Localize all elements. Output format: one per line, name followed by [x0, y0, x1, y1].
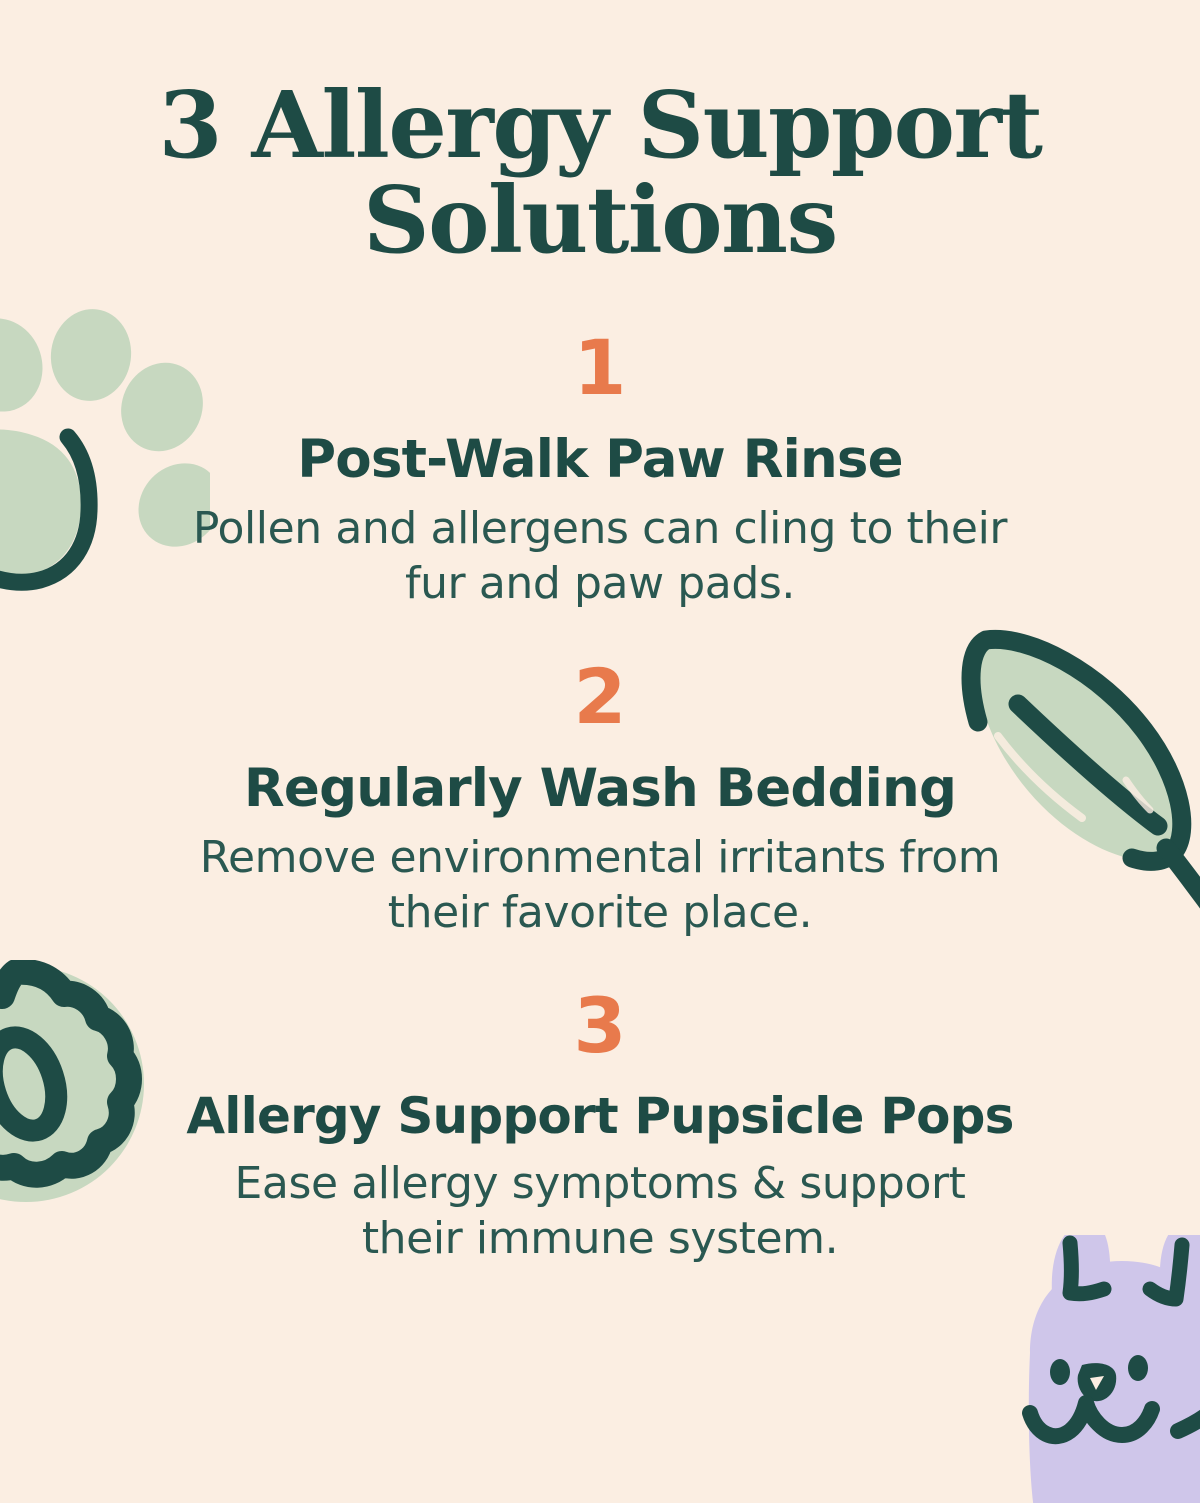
- step-number-3: 3: [90, 988, 1110, 1064]
- step-number-1: 1: [90, 330, 1110, 406]
- step-item-1: 1 Post-Walk Paw Rinse Pollen and allerge…: [90, 330, 1110, 611]
- step-item-3: 3 Allergy Support Pupsicle Pops Ease all…: [90, 988, 1110, 1266]
- step-body-3: Ease allergy symptoms & support their im…: [90, 1156, 1110, 1266]
- step-number-2: 2: [90, 659, 1110, 735]
- poster-content: 3 Allergy Support Solutions 1 Post-Walk …: [0, 0, 1200, 1503]
- page-title: 3 Allergy Support Solutions: [90, 78, 1110, 268]
- step-title-3: Allergy Support Pupsicle Pops: [90, 1088, 1110, 1144]
- step-title-1: Post-Walk Paw Rinse: [90, 430, 1110, 489]
- infographic-poster: 3 Allergy Support Solutions 1 Post-Walk …: [0, 0, 1200, 1503]
- step-title-2: Regularly Wash Bedding: [90, 759, 1110, 818]
- step-item-2: 2 Regularly Wash Bedding Remove environm…: [90, 659, 1110, 940]
- step-body-2: Remove environmental irritants from thei…: [90, 830, 1110, 940]
- step-body-1: Pollen and allergens can cling to their …: [90, 501, 1110, 611]
